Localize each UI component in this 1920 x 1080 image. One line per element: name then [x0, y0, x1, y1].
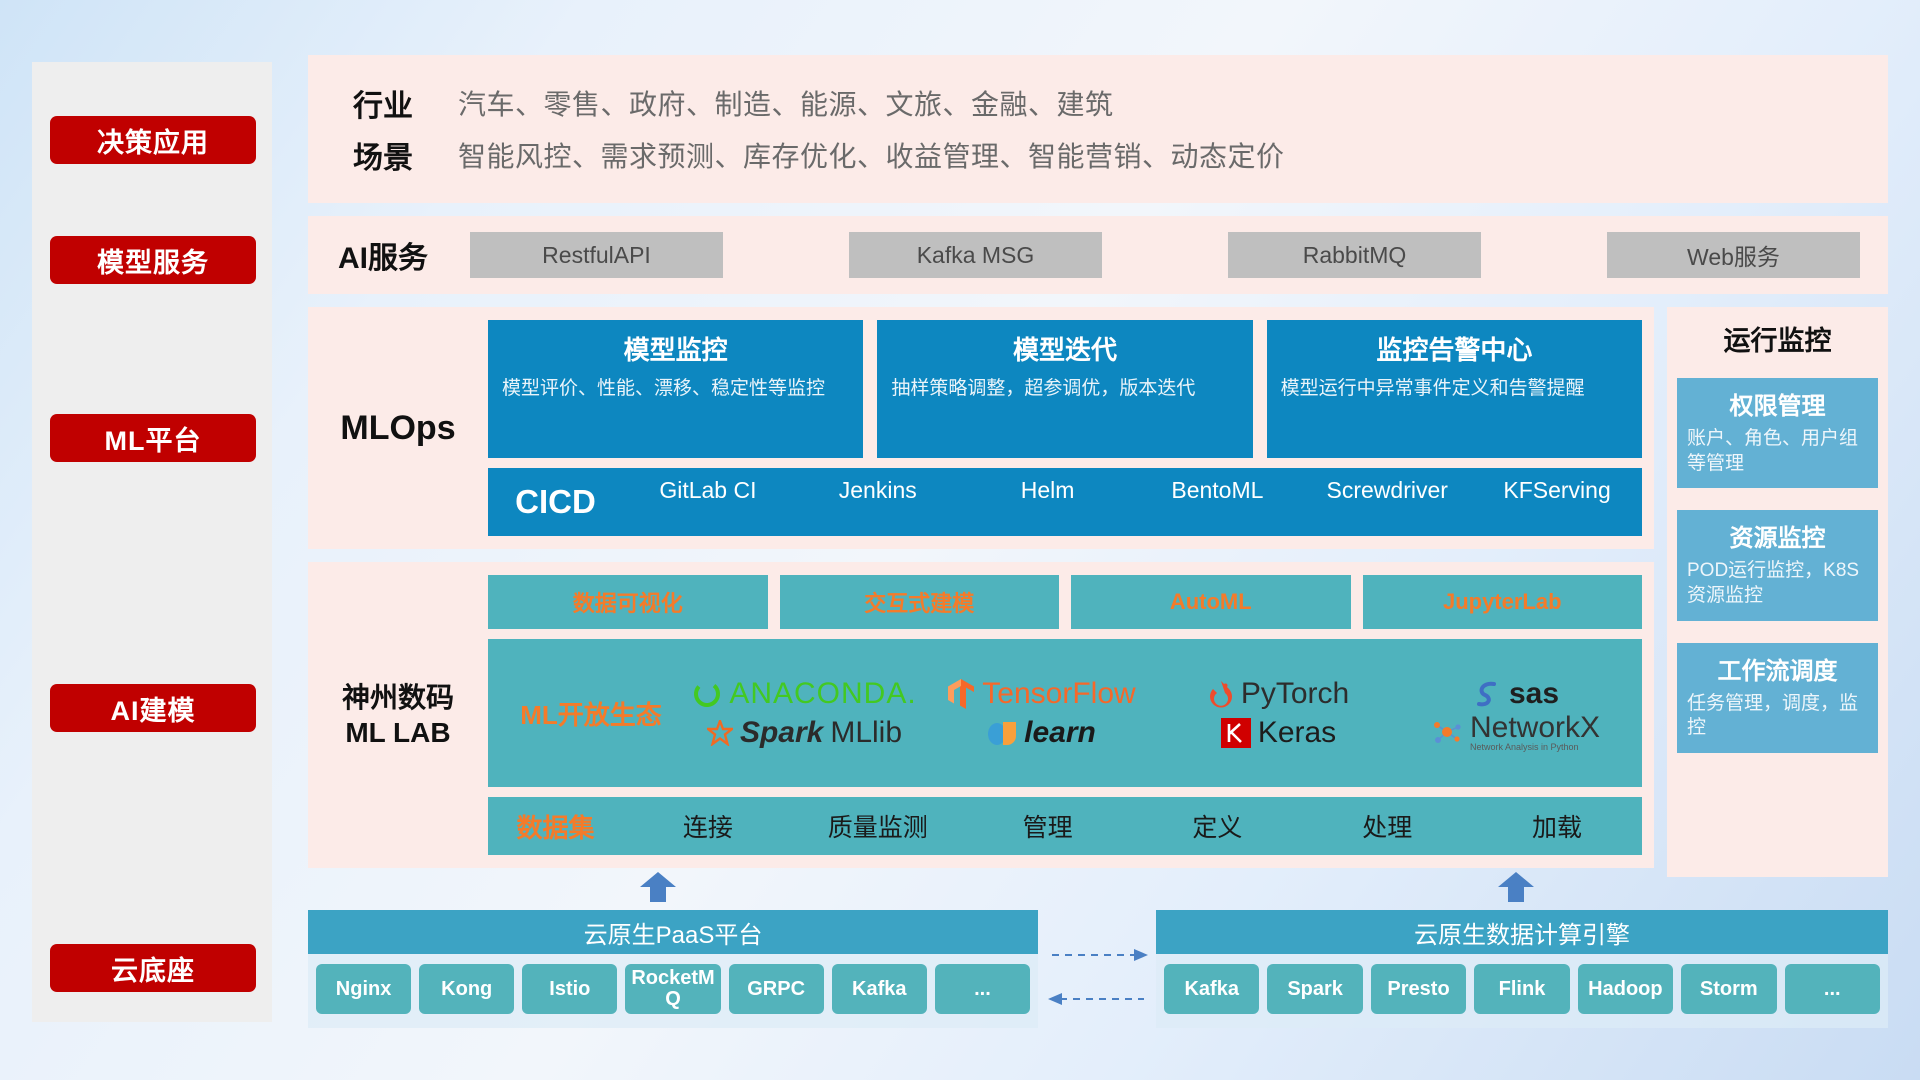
dataset-title: 数据集 [488, 808, 623, 845]
spark-mllib-logo: Spark MLlib [686, 716, 923, 750]
networkx-graph-icon [1431, 718, 1463, 748]
engine-chip-hadoop[interactable]: Hadoop [1578, 964, 1673, 1014]
cicd-item-gitlab-ci[interactable]: GitLab CI [623, 474, 793, 530]
mlops-label: MLOps [308, 320, 488, 536]
sas-wordmark: sas [1509, 677, 1559, 711]
cicd-item-bentoml[interactable]: BentoML [1132, 474, 1302, 530]
keras-mark-icon [1221, 718, 1251, 748]
service-chip-kafka-msg[interactable]: Kafka MSG [849, 232, 1102, 278]
cicd-items: GitLab CI Jenkins Helm BentoML Screwdriv… [623, 474, 1642, 530]
cicd-item-screwdriver[interactable]: Screwdriver [1302, 474, 1472, 530]
monitoring-panel: 运行监控 权限管理 账户、角色、用户组等管理 资源监控 POD运行监控，K8S资… [1667, 307, 1888, 877]
paas-chip-nginx[interactable]: Nginx [316, 964, 411, 1014]
monitoring-card-permissions[interactable]: 权限管理 账户、角色、用户组等管理 [1677, 378, 1878, 488]
cicd-title: CICD [488, 483, 623, 521]
mlops-card-model-iteration[interactable]: 模型迭代 抽样策略调整，超参调优，版本迭代 [877, 320, 1252, 458]
dataset-item-quality-monitor[interactable]: 质量监测 [793, 808, 963, 844]
spark-wordmark: Spark [740, 716, 823, 750]
applications-band: 行业 汽车、零售、政府、制造、能源、文旅、金融、建筑 场景 智能风控、需求预测、… [308, 55, 1888, 203]
rail-item-cloud-base[interactable]: 云底座 [50, 944, 256, 992]
modeling-tiles: 数据可视化 交互式建模 AutoML JupyterLab [488, 575, 1642, 629]
rail-label: 决策应用 [97, 121, 209, 160]
data-engine-group: 云原生数据计算引擎 Kafka Spark Presto Flink Hadoo… [1156, 910, 1888, 1028]
spark-star-icon [707, 720, 733, 746]
ai-services-band: AI服务 RestfulAPI Kafka MSG RabbitMQ Web服务 [308, 216, 1888, 294]
scikit-blob-icon [987, 719, 1017, 747]
platform-left: MLOps 模型监控 模型评价、性能、漂移、稳定性等监控 模型迭代 抽样策略调整… [308, 307, 1654, 877]
card-title: 资源监控 [1687, 518, 1868, 553]
mlops-cards: 模型监控 模型评价、性能、漂移、稳定性等监控 模型迭代 抽样策略调整，超参调优，… [488, 320, 1642, 458]
rail-label: AI建模 [111, 689, 196, 728]
cicd-item-kfserving[interactable]: KFServing [1472, 474, 1642, 530]
tensorflow-mark-icon [947, 678, 975, 710]
mlops-stack: 模型监控 模型评价、性能、漂移、稳定性等监控 模型迭代 抽样策略调整，超参调优，… [488, 320, 1654, 536]
cicd-item-jenkins[interactable]: Jenkins [793, 474, 963, 530]
card-desc: 抽样策略调整，超参调优，版本迭代 [891, 376, 1238, 402]
sas-mark-icon [1472, 679, 1502, 709]
pytorch-wordmark: PyTorch [1241, 677, 1349, 711]
service-chip-web-service[interactable]: Web服务 [1607, 232, 1860, 278]
bidirectional-link-icon [1048, 943, 1148, 1013]
networkx-tagline: Network Analysis in Python [1470, 743, 1600, 752]
dataset-item-process[interactable]: 处理 [1302, 808, 1472, 844]
card-title: 工作流调度 [1687, 651, 1868, 686]
ai-services-label: AI服务 [308, 233, 458, 277]
engine-chip-kafka[interactable]: Kafka [1164, 964, 1259, 1014]
card-title: 模型监控 [502, 330, 849, 367]
card-title: 监控告警中心 [1281, 330, 1628, 367]
monitoring-column: 运行监控 权限管理 账户、角色、用户组等管理 资源监控 POD运行监控，K8S资… [1667, 307, 1888, 877]
paas-platform-title: 云原生PaaS平台 [308, 910, 1038, 954]
tile-data-visualization[interactable]: 数据可视化 [488, 575, 768, 629]
mllib-wordmark: MLlib [830, 716, 902, 750]
service-chip-rabbitmq[interactable]: RabbitMQ [1228, 232, 1481, 278]
tensorflow-wordmark: TensorFlow [982, 677, 1135, 711]
engine-chip-spark[interactable]: Spark [1267, 964, 1362, 1014]
rail-item-ai-modeling[interactable]: AI建模 [50, 684, 256, 732]
card-title: 模型迭代 [891, 330, 1238, 367]
mlops-card-model-monitor[interactable]: 模型监控 模型评价、性能、漂移、稳定性等监控 [488, 320, 863, 458]
dataset-item-connect[interactable]: 连接 [623, 808, 793, 844]
pytorch-logo: PyTorch [1160, 677, 1397, 711]
paas-chip-more[interactable]: ... [935, 964, 1030, 1014]
up-arrow-icon-left [638, 872, 678, 902]
pytorch-flame-icon [1208, 679, 1234, 709]
tile-interactive-modeling[interactable]: 交互式建模 [780, 575, 1060, 629]
platform-band: MLOps 模型监控 模型评价、性能、漂移、稳定性等监控 模型迭代 抽样策略调整… [308, 307, 1888, 877]
rail-label: 模型服务 [97, 241, 209, 280]
ml-lab-line2: ML LAB [342, 715, 454, 750]
networkx-wordmark: NetworkX [1470, 713, 1600, 743]
scenario-values: 智能风控、需求预测、库存优化、收益管理、智能营销、动态定价 [458, 135, 1285, 175]
card-desc: 任务管理，调度，监控 [1687, 692, 1868, 741]
cloud-base-band: 云原生PaaS平台 Nginx Kong Istio RocketMQ GRPC… [308, 888, 1888, 1048]
ml-ecosystem-title: ML开放生态 [496, 695, 686, 732]
card-desc: 模型评价、性能、漂移、稳定性等监控 [502, 376, 849, 402]
engine-chip-more[interactable]: ... [1785, 964, 1880, 1014]
paas-chip-kong[interactable]: Kong [419, 964, 514, 1014]
rail-label: ML平台 [105, 419, 202, 458]
cicd-bar: CICD GitLab CI Jenkins Helm BentoML Scre… [488, 468, 1642, 536]
mlops-band: MLOps 模型监控 模型评价、性能、漂移、稳定性等监控 模型迭代 抽样策略调整… [308, 307, 1654, 549]
engine-chip-flink[interactable]: Flink [1474, 964, 1569, 1014]
up-arrow-icon-right [1496, 872, 1536, 902]
ml-lab-label: 神州数码 ML LAB [308, 575, 488, 855]
architecture-main: 行业 汽车、零售、政府、制造、能源、文旅、金融、建筑 场景 智能风控、需求预测、… [308, 55, 1888, 877]
monitoring-title: 运行监控 [1677, 319, 1878, 358]
networkx-logo: NetworkX Network Analysis in Python [1397, 713, 1634, 752]
card-desc: 账户、角色、用户组等管理 [1687, 427, 1868, 476]
rail-item-model-service[interactable]: 模型服务 [50, 236, 256, 284]
anaconda-wordmark: ANACONDA. [729, 677, 916, 711]
dataset-item-load[interactable]: 加载 [1472, 808, 1642, 844]
ml-lab-line1: 神州数码 [342, 680, 454, 715]
paas-chip-kafka[interactable]: Kafka [832, 964, 927, 1014]
scenario-row: 场景 智能风控、需求预测、库存优化、收益管理、智能营销、动态定价 [308, 129, 1888, 181]
card-desc: 模型运行中异常事件定义和告警提醒 [1281, 376, 1628, 402]
scikit-learn-logo: learn [923, 716, 1160, 750]
anaconda-mark-icon [692, 679, 722, 709]
tensorflow-logo: TensorFlow [923, 677, 1160, 711]
cicd-item-helm[interactable]: Helm [963, 474, 1133, 530]
dataset-item-define[interactable]: 定义 [1132, 808, 1302, 844]
dataset-items: 连接 质量监测 管理 定义 处理 加载 [623, 808, 1642, 844]
card-title: 权限管理 [1687, 386, 1868, 421]
industry-row: 行业 汽车、零售、政府、制造、能源、文旅、金融、建筑 [308, 77, 1888, 129]
scenario-label: 场景 [308, 133, 458, 177]
industry-values: 汽车、零售、政府、制造、能源、文旅、金融、建筑 [458, 83, 1114, 123]
modeling-stack: 数据可视化 交互式建模 AutoML JupyterLab ML开放生态 [488, 575, 1654, 855]
rail-label: 云底座 [111, 949, 195, 988]
layer-rail: 决策应用 模型服务 ML平台 AI建模 云底座 [32, 62, 272, 1022]
engine-chip-presto[interactable]: Presto [1371, 964, 1466, 1014]
sas-logo: sas [1397, 677, 1634, 711]
ml-ecosystem-bar: ML开放生态 ANACONDA. [488, 639, 1642, 787]
engine-chip-storm[interactable]: Storm [1681, 964, 1776, 1014]
industry-label: 行业 [308, 81, 458, 125]
dataset-bar: 数据集 连接 质量监测 管理 定义 处理 加载 [488, 797, 1642, 855]
ai-services-items: RestfulAPI Kafka MSG RabbitMQ Web服务 [458, 232, 1888, 278]
paas-platform-group: 云原生PaaS平台 Nginx Kong Istio RocketMQ GRPC… [308, 910, 1038, 1028]
tile-jupyterlab[interactable]: JupyterLab [1363, 575, 1643, 629]
rail-item-ml-platform[interactable]: ML平台 [50, 414, 256, 462]
paas-chips: Nginx Kong Istio RocketMQ GRPC Kafka ... [308, 954, 1038, 1018]
dataset-item-manage[interactable]: 管理 [963, 808, 1133, 844]
card-desc: POD运行监控，K8S资源监控 [1687, 559, 1868, 608]
rail-item-decision-app[interactable]: 决策应用 [50, 116, 256, 164]
mlops-card-alert-center[interactable]: 监控告警中心 模型运行中异常事件定义和告警提醒 [1267, 320, 1642, 458]
paas-chip-istio[interactable]: Istio [522, 964, 617, 1014]
paas-chip-rocketmq[interactable]: RocketMQ [625, 964, 720, 1014]
data-engine-title: 云原生数据计算引擎 [1156, 910, 1888, 954]
tile-automl[interactable]: AutoML [1071, 575, 1351, 629]
modeling-band: 神州数码 ML LAB 数据可视化 交互式建模 AutoML JupyterLa… [308, 562, 1654, 868]
monitoring-card-resources[interactable]: 资源监控 POD运行监控，K8S资源监控 [1677, 510, 1878, 620]
keras-wordmark: Keras [1258, 716, 1336, 750]
anaconda-logo: ANACONDA. [686, 677, 923, 711]
ml-ecosystem-logos: ANACONDA. TensorFlow [686, 674, 1634, 752]
service-chip-restfulapi[interactable]: RestfulAPI [470, 232, 723, 278]
paas-chip-grpc[interactable]: GRPC [729, 964, 824, 1014]
scikit-wordmark: learn [1024, 716, 1096, 750]
keras-logo: Keras [1160, 716, 1397, 750]
monitoring-card-workflow[interactable]: 工作流调度 任务管理，调度，监控 [1677, 643, 1878, 753]
data-engine-chips: Kafka Spark Presto Flink Hadoop Storm ..… [1156, 954, 1888, 1018]
